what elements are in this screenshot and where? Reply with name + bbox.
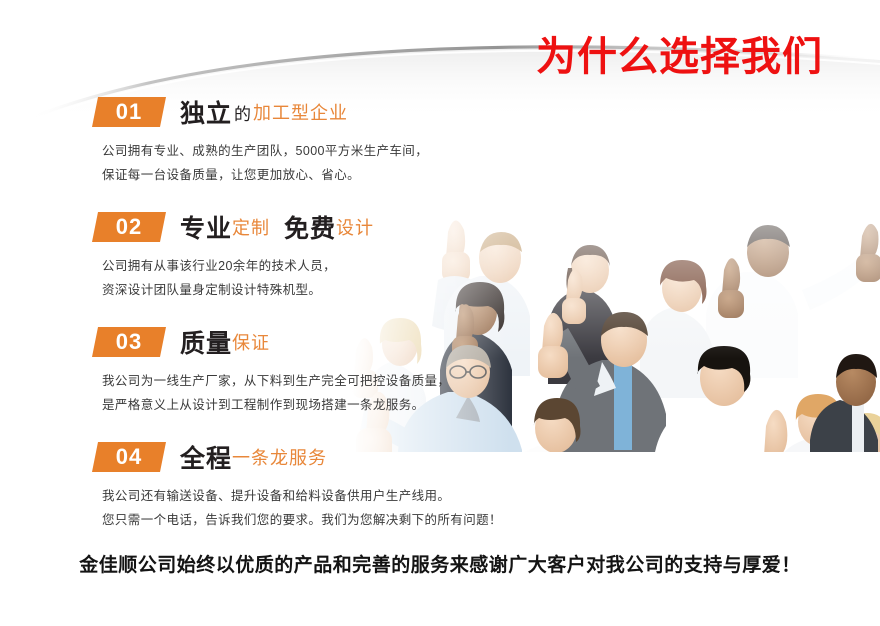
badge-label: 04: [92, 442, 166, 472]
feature-title-accent: 保证: [232, 329, 270, 355]
feature-description: 我公司还有输送设备、提升设备和给料设备供用户生产线用。 您只需一个电话，告诉我们…: [102, 484, 512, 532]
badge-label: 02: [92, 212, 166, 242]
page-title: 为什么选择我们: [536, 24, 823, 82]
badge-number-04: 04: [92, 442, 166, 472]
badge-label: 03: [92, 327, 166, 357]
footer-slogan: 金佳顺公司始终以优质的产品和完善的服务来感谢广大客户对我公司的支持与厚爱！: [0, 550, 880, 577]
feature-title-main: 全程: [180, 439, 232, 475]
feature-line: 资深设计团队量身定制设计特殊机型。: [102, 278, 512, 302]
feature-heading: 01 独立 的 加工型企业: [92, 95, 512, 129]
feature-title-accent-2: 设计: [336, 214, 374, 240]
feature-description: 我公司为一线生产厂家，从下料到生产完全可把控设备质量， 是严格意义上从设计到工程…: [102, 369, 512, 417]
feature-heading: 02 专业 定制 免费 设计: [92, 210, 512, 244]
feature-line: 是严格意义上从设计到工程制作到现场搭建一条龙服务。: [102, 393, 512, 417]
promo-banner: 为什么选择我们 01 独立 的 加工型企业 公司拥有专业、成熟的生产团队，500…: [0, 0, 880, 626]
feature-title-main: 独立: [180, 94, 232, 130]
badge-label: 01: [92, 97, 166, 127]
feature-line: 我公司为一线生产厂家，从下料到生产完全可把控设备质量，: [102, 369, 512, 393]
feature-line: 您只需一个电话，告诉我们您的要求。我们为您解决剩下的所有问题！: [102, 508, 512, 532]
feature-block-01: 01 独立 的 加工型企业 公司拥有专业、成熟的生产团队，5000平方米生产车间…: [92, 95, 512, 187]
feature-block-03: 03 质量 保证 我公司为一线生产厂家，从下料到生产完全可把控设备质量， 是严格…: [92, 325, 512, 417]
feature-block-02: 02 专业 定制 免费 设计 公司拥有从事该行业20余年的技术人员， 资深设计团…: [92, 210, 512, 302]
feature-title-main-2: 免费: [284, 209, 336, 245]
feature-title-main: 专业: [180, 209, 232, 245]
feature-title-accent: 加工型企业: [253, 99, 348, 125]
feature-heading: 03 质量 保证: [92, 325, 512, 359]
feature-title-accent: 一条龙服务: [232, 444, 327, 470]
feature-line: 保证每一台设备质量，让您更加放心、省心。: [102, 163, 512, 187]
badge-number-03: 03: [92, 327, 166, 357]
feature-description: 公司拥有从事该行业20余年的技术人员， 资深设计团队量身定制设计特殊机型。: [102, 254, 512, 302]
feature-block-04: 04 全程 一条龙服务 我公司还有输送设备、提升设备和给料设备供用户生产线用。 …: [92, 440, 512, 532]
feature-line: 公司拥有专业、成熟的生产团队，5000平方米生产车间，: [102, 139, 512, 163]
feature-title-main: 质量: [180, 324, 232, 360]
feature-title-particle: 的: [234, 100, 251, 125]
feature-title-accent: 定制: [232, 214, 270, 240]
badge-number-01: 01: [92, 97, 166, 127]
badge-number-02: 02: [92, 212, 166, 242]
feature-description: 公司拥有专业、成熟的生产团队，5000平方米生产车间， 保证每一台设备质量，让您…: [102, 139, 512, 187]
feature-line: 公司拥有从事该行业20余年的技术人员，: [102, 254, 512, 278]
feature-line: 我公司还有输送设备、提升设备和给料设备供用户生产线用。: [102, 484, 512, 508]
feature-heading: 04 全程 一条龙服务: [92, 440, 512, 474]
